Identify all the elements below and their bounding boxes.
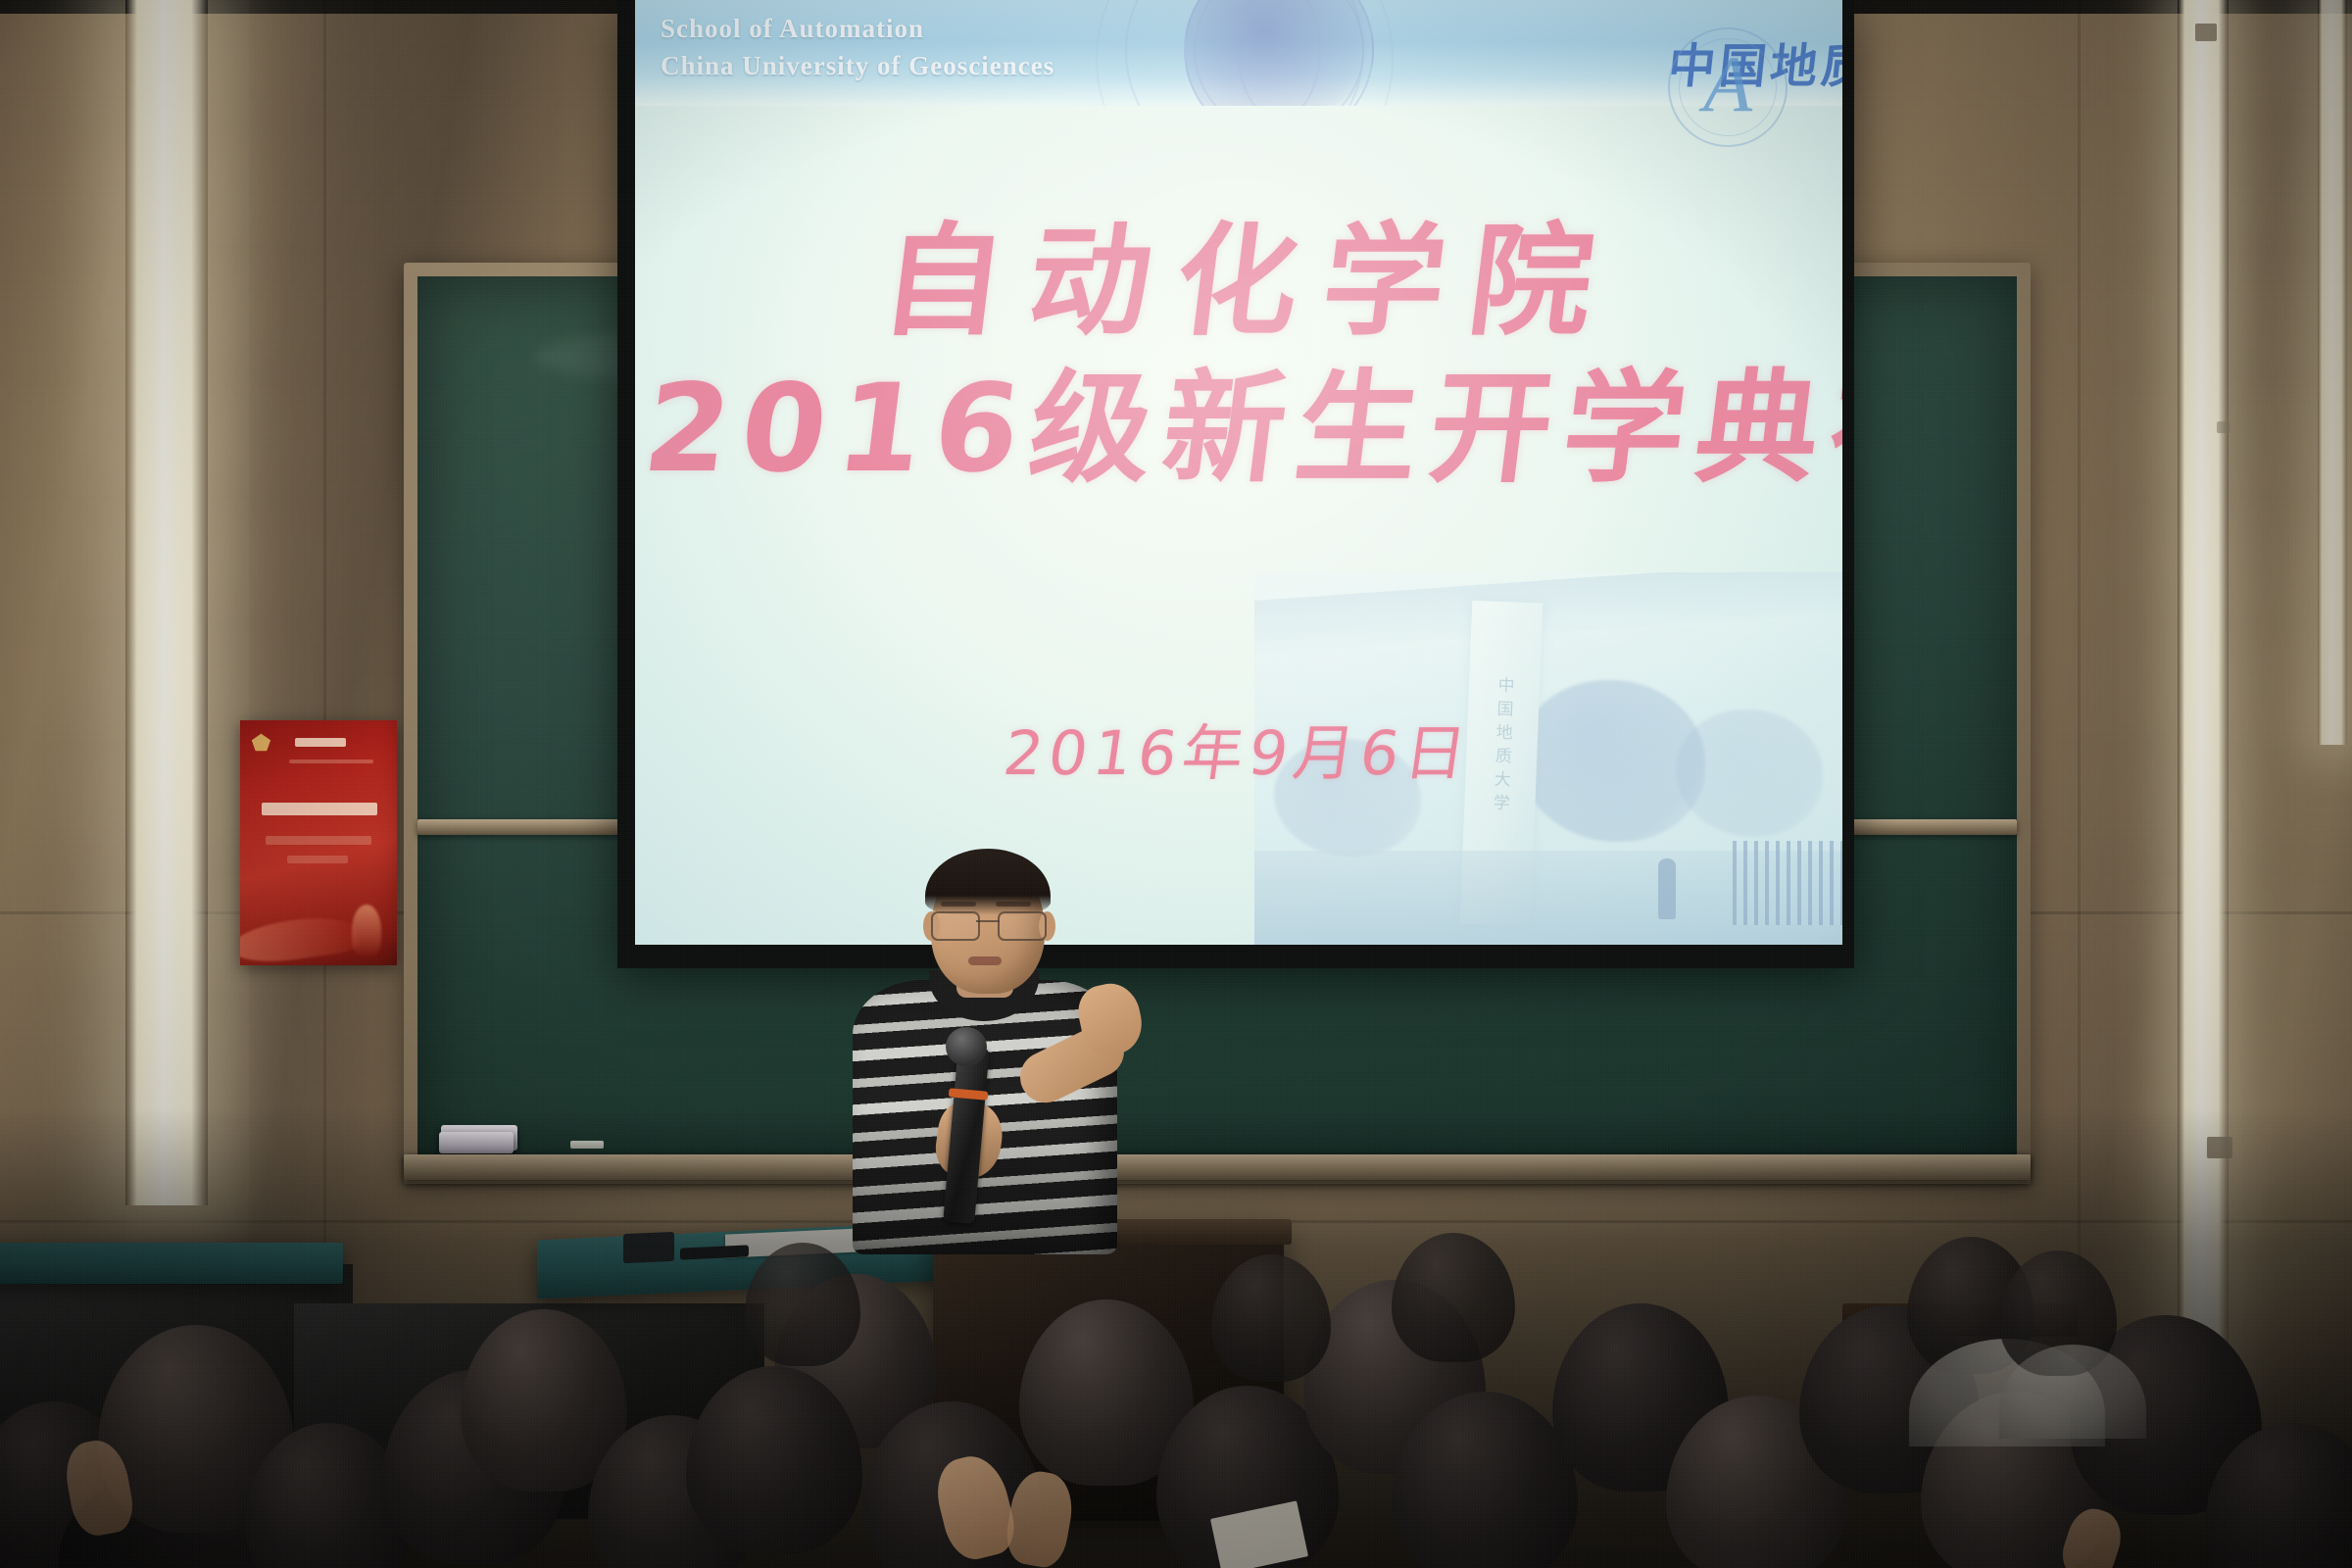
poster-heading-line	[295, 738, 346, 747]
globe-arc-2	[1096, 0, 1394, 106]
microphone-capsule-icon	[946, 1027, 987, 1066]
glasses-bridge	[976, 920, 1000, 922]
desk-equipment-box[interactable]	[623, 1232, 674, 1263]
wall-light-strip-right	[2178, 0, 2229, 1490]
light-bracket-top	[2195, 24, 2217, 41]
slide-date: 2016年9月6日	[635, 704, 1842, 792]
wall-light-strip-left	[125, 0, 208, 1205]
blackboard-eraser-secondary[interactable]	[439, 1132, 514, 1153]
slide-header-band: School of Automation China University of…	[635, 0, 1842, 106]
light-bracket-mid	[2217, 421, 2230, 433]
poster-main-text-line	[262, 803, 377, 815]
slide-title-line2: 2016级新生开学典礼	[635, 329, 1842, 506]
light-bracket-bottom	[2207, 1137, 2232, 1158]
photo-pedestrian	[1658, 858, 1676, 919]
party-emblem-icon	[250, 732, 271, 752]
presenter-eyebrow-right	[996, 902, 1031, 906]
red-propaganda-poster	[240, 720, 397, 965]
wall-light-strip-far-right	[2318, 0, 2347, 745]
slide-header-english-line2: China University of Geosciences	[661, 51, 1054, 81]
glasses-lens-left	[931, 911, 980, 941]
lecture-hall-photo: 中国地质大学 School of Automation China Univer…	[0, 0, 2352, 1568]
poster-subline-3	[287, 856, 348, 863]
slide-header-english-line1: School of Automation	[661, 14, 924, 44]
poster-torch-graphic	[352, 905, 381, 955]
side-desk-left-top	[0, 1243, 343, 1284]
glasses-lens-right	[998, 911, 1047, 941]
chalkboard-lower-tray	[404, 1154, 2031, 1180]
school-of-automation-emblem-icon: A	[1668, 27, 1788, 147]
chalk-stick[interactable]	[570, 1141, 604, 1149]
presenter	[853, 855, 1127, 1266]
emblem-letter: A	[1703, 44, 1752, 124]
projection-screen: 中国地质大学 School of Automation China Univer…	[635, 0, 1842, 945]
photo-fence	[1733, 841, 1842, 925]
presenter-mouth	[968, 956, 1002, 965]
poster-subline-1	[289, 759, 373, 763]
poster-ribbon-graphic	[240, 911, 360, 965]
presenter-eyebrow-left	[941, 902, 976, 906]
poster-subline-2	[266, 836, 371, 845]
presenter-glasses-icon	[931, 911, 1049, 937]
